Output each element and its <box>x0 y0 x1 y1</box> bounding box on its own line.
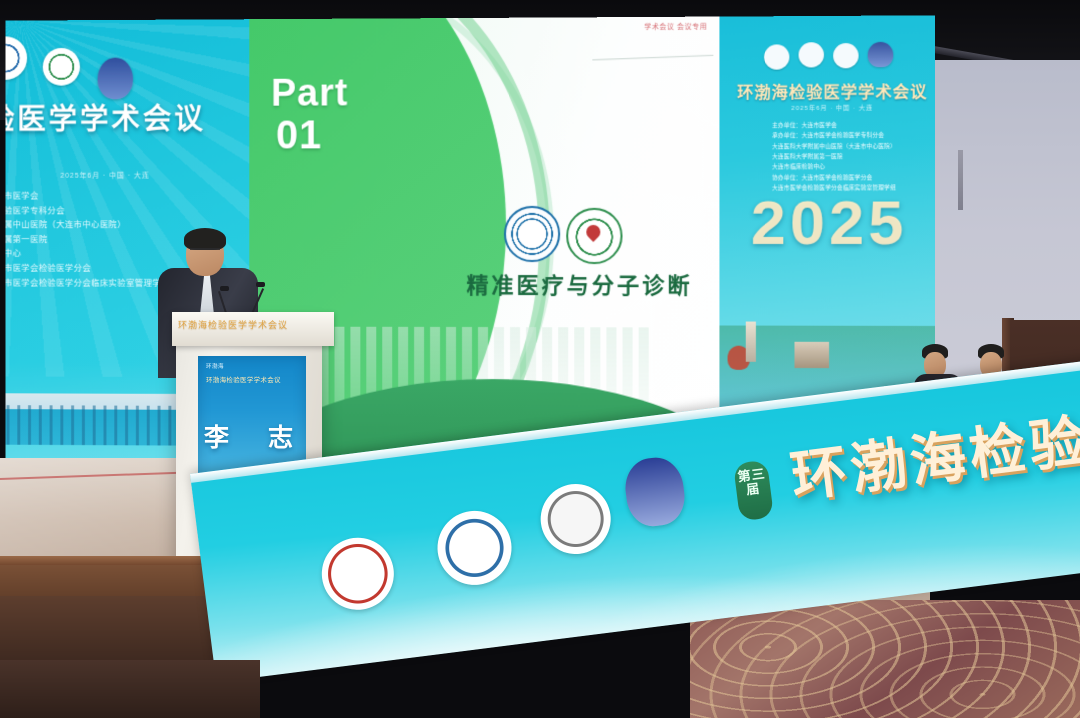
organizer-line: 承办单位：大连市医学会检验医学专科分会 <box>772 131 935 142</box>
slide-title: 精准医疗与分子诊断 <box>454 268 705 300</box>
backdrop-right-subtitle: 2025年6月 · 中国 · 大连 <box>736 102 929 112</box>
organizer-line: 大连医科大学附属第一医院 <box>6 232 179 247</box>
podium-panel-subtitle: 环渤海检验医学学术会议 <box>206 374 281 384</box>
organizer-line: 承办单位：大连市医学会检验医学分会 <box>6 261 179 276</box>
microphone-head-icon <box>256 282 265 287</box>
backdrop-right-title: 环渤海检验医学学术会议 <box>736 78 929 103</box>
microphone-head-icon <box>220 286 229 291</box>
backdrop-right-organizers: 主办单位：大连市医学会 承办单位：大连市医学会检验医学专科分会 大连医科大学附属… <box>772 121 935 194</box>
organizer-line: 协办单位：大连市医学会检验医学分会 <box>772 173 935 184</box>
blue-seal-logo <box>799 42 824 67</box>
slide-divider-rule <box>592 55 713 61</box>
organizer-line: 大连医科大学附属中山医院（大连市中心医院） <box>772 141 935 152</box>
podium-top-band: 环渤海检验医学学术会议 <box>178 318 328 342</box>
speaker-name-plate: 李 志 <box>198 418 306 454</box>
backdrop-left-organizers: 主办单位：大连市医学会 大连市医学会检验医学专科分会 大连医科大学附属中山医院（… <box>6 188 179 290</box>
backdrop-left-heading: 检验医学学术会议 <box>6 103 181 139</box>
part-word: Part <box>271 73 348 115</box>
slide-logo-group <box>504 206 620 264</box>
blue-seal-logo <box>6 36 27 80</box>
slide-corner-watermark: 学术会议 会议专用 <box>644 23 707 32</box>
green-medical-logo <box>833 43 858 68</box>
organizer-line: 大连市临床检验中心 <box>6 246 179 261</box>
conference-photo: 检验医学学术会议 2025年6月 · 中国 · 大连 主办单位：大连市医学会 大… <box>0 0 1080 718</box>
organizer-line: 主办单位：大连市医学会 <box>6 188 179 203</box>
landmark-tower <box>746 322 756 362</box>
foreground-floor-shadow <box>0 660 260 718</box>
organizer-line: 大连市医学会检验医学专科分会 <box>6 203 179 218</box>
organizer-line: 协办单位：大连市医学会检验医学分会临床实验室管理学组 <box>6 275 179 290</box>
landmark-pagoda <box>794 342 829 368</box>
organizer-line: 大连市临床检验中心 <box>772 162 935 173</box>
blue-shield-logo <box>98 58 133 100</box>
blue-shield-logo <box>868 42 894 67</box>
hospital-heart-logo <box>566 208 622 264</box>
backdrop-right-year: 2025 <box>728 187 932 259</box>
speaker-hair <box>184 228 226 250</box>
red-heart-logo <box>764 44 789 69</box>
backdrop-left-date: 2025年6月 · 中国 · 大连 <box>60 171 149 181</box>
backdrop-left-logos <box>6 34 157 100</box>
part-number: 01 <box>276 114 348 156</box>
backdrop-right-logos <box>764 42 896 73</box>
wall-fixture <box>958 150 963 210</box>
speaker-glasses-icon <box>190 248 220 258</box>
podium-panel-logo: 环渤海 <box>206 362 224 370</box>
organizer-line: 大连医科大学附属第一医院 <box>772 152 935 163</box>
floor-carpet <box>690 600 1080 718</box>
organizer-line: 主办单位：大连市医学会 <box>772 121 935 132</box>
organizer-line: 大连医科大学附属中山医院（大连市中心医院） <box>6 217 179 232</box>
slide-part-label: Part 01 <box>271 74 348 156</box>
university-seal-logo <box>504 206 560 262</box>
red-heart-medical-logo <box>43 48 80 86</box>
